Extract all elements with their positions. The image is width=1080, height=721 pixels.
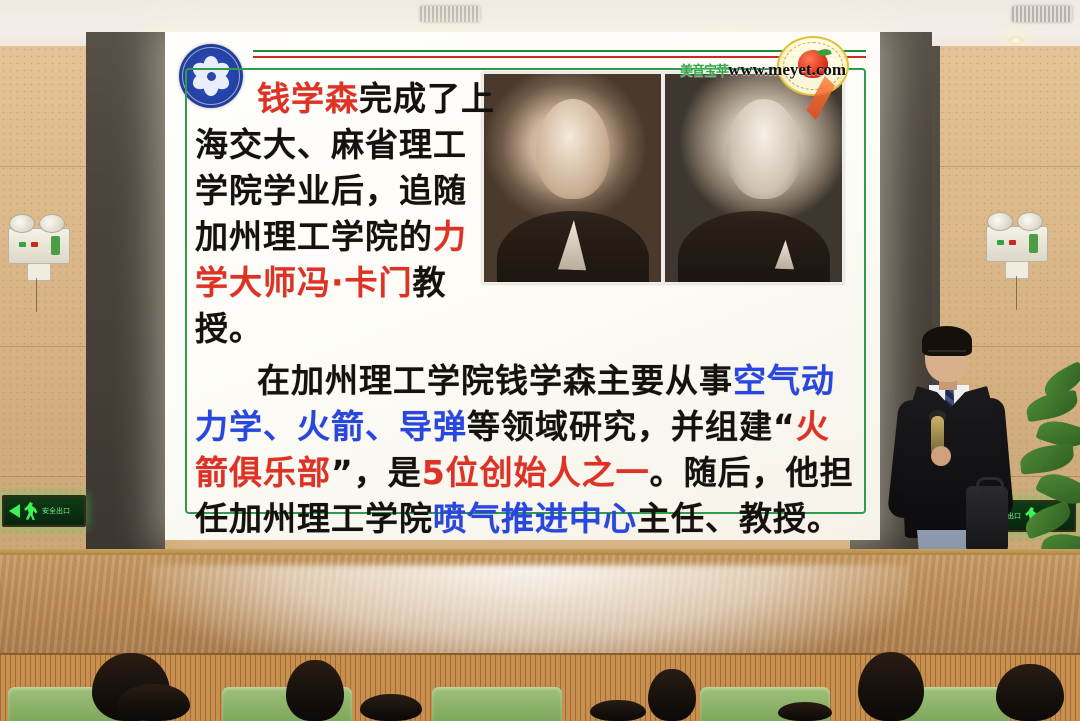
backpack-on-floor	[966, 486, 1008, 556]
emergency-light-right	[986, 226, 1048, 262]
arrow-left-icon	[9, 504, 20, 518]
audience-seat	[432, 687, 562, 721]
slide-text-body: 钱学森完成了上海交大、麻省理工学院学业后，追随加州理工学院的力学大师冯·卡门教授…	[195, 76, 858, 542]
lamp-head-icon	[1017, 212, 1043, 231]
audience-head	[286, 660, 344, 721]
p2-run-7: 喷气推进中心	[433, 499, 637, 538]
lecture-hall-scene: 安全出口 安全出口	[0, 0, 1080, 721]
status-led-red	[1009, 240, 1016, 245]
wall-switch-box	[1005, 261, 1029, 279]
status-led-green	[997, 240, 1004, 245]
running-man-icon	[24, 502, 38, 520]
status-led-green	[19, 242, 26, 247]
slide-paragraph-1: 钱学森完成了上海交大、麻省理工学院学业后，追随加州理工学院的力学大师冯·卡门教授…	[195, 76, 495, 352]
exit-sign-left: 安全出口	[2, 495, 86, 527]
p2-run-0: 在加州理工学院钱学森主要从事	[257, 361, 733, 400]
p2-run-4: ”，是	[331, 453, 422, 492]
p2-run-8: 主任、教授。	[637, 499, 841, 538]
audience-head	[648, 669, 696, 721]
slide-paragraph-2: 在加州理工学院钱学森主要从事空气动力学、火箭、导弹等领域研究，并组建“火箭俱乐部…	[195, 358, 858, 542]
ceiling-vent	[420, 6, 480, 22]
audience-head	[996, 664, 1064, 721]
status-led-red	[31, 242, 38, 247]
audience-head	[778, 702, 832, 721]
audience-head	[590, 700, 646, 721]
audience-head	[118, 684, 190, 721]
ceiling-vent	[1012, 6, 1072, 22]
emergency-light-left	[8, 228, 70, 264]
p2-run-2: 等领域研究，并组建“	[467, 407, 796, 446]
lamp-head-icon	[39, 214, 65, 233]
projection-screen: 美音宝苹www.meyet.com 钱学森完成了上海交大、麻省理工学院学业后，追…	[165, 32, 880, 540]
slide-content: 美音宝苹www.meyet.com 钱学森完成了上海交大、麻省理工学院学业后，追…	[165, 32, 880, 540]
audience-head	[360, 694, 422, 721]
indicator-bar	[51, 236, 60, 255]
lamp-head-icon	[987, 212, 1013, 231]
audience-head	[858, 652, 924, 721]
indicator-bar	[1029, 234, 1038, 253]
ceiling-downlight	[1008, 36, 1024, 45]
exit-sign-left-label: 安全出口	[42, 507, 70, 515]
wall-switch-box	[27, 263, 51, 281]
p2-run-5: 5位创始人之一	[422, 453, 650, 492]
glasses-icon	[928, 350, 966, 360]
p1-run-0: 钱学森	[257, 79, 359, 118]
lamp-head-icon	[9, 214, 35, 233]
panel-left-dark	[86, 32, 165, 557]
presenter-hand	[931, 446, 951, 466]
